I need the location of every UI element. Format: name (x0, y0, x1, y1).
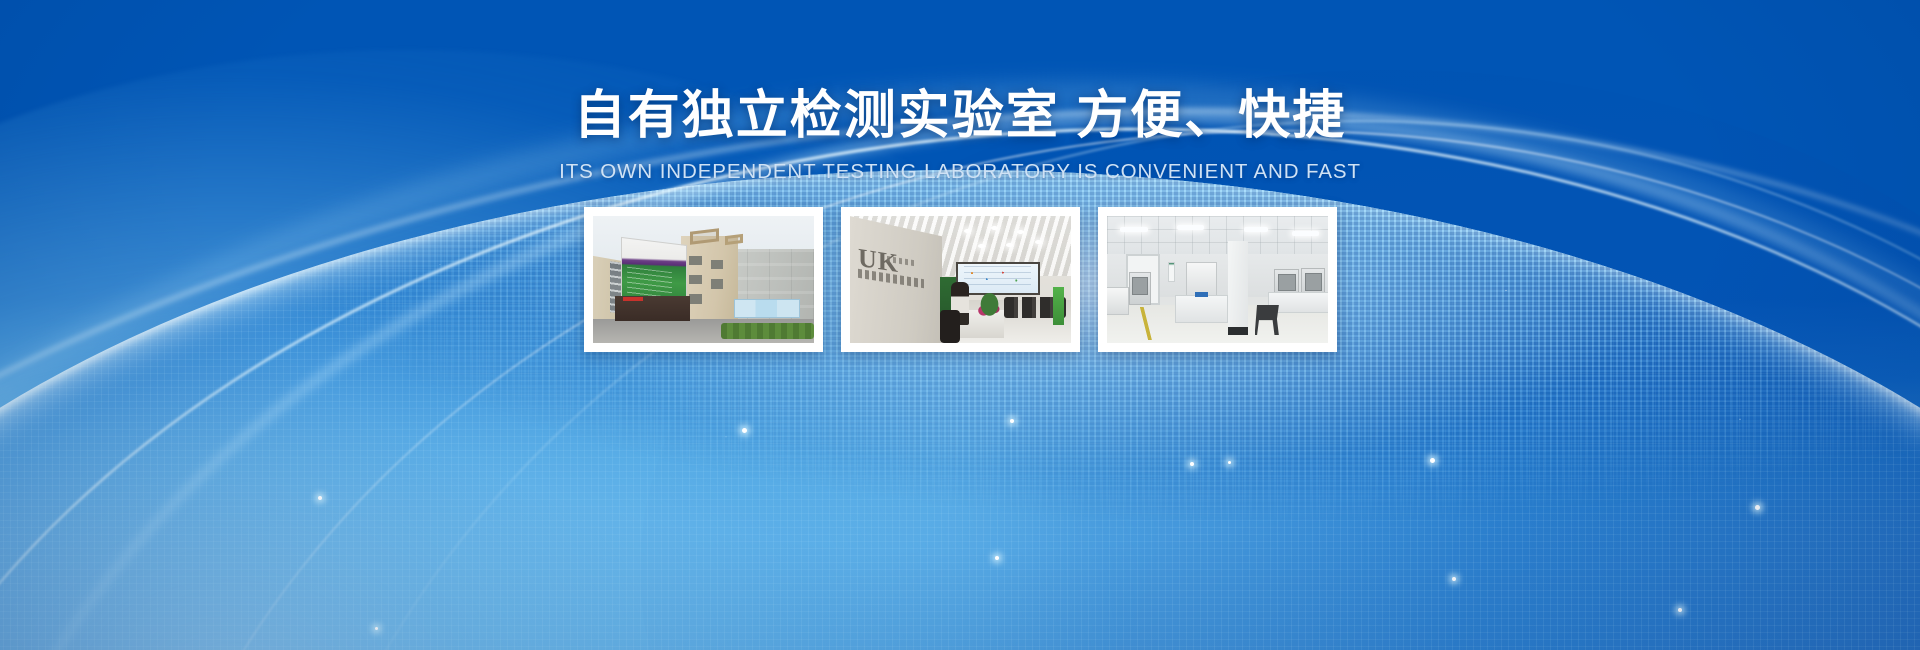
photo-card-laboratory-interior[interactable] (1098, 207, 1337, 352)
photo-laboratory-interior (1107, 216, 1328, 343)
banner-copy: 自有独立检测实验室 方便、快捷 ITS OWN INDEPENDENT TEST… (0, 88, 1920, 184)
sparkle-icon (1190, 462, 1194, 466)
photo-card-reception-lobby[interactable]: UK (841, 207, 1080, 352)
sparkle-icon (742, 428, 747, 433)
sparkle-icon (1430, 458, 1435, 463)
photo-reception-lobby: UK (850, 216, 1071, 343)
sparkle-icon (375, 627, 378, 630)
sparkle-icon (1228, 461, 1231, 464)
page-subtitle: ITS OWN INDEPENDENT TESTING LABORATORY I… (0, 160, 1920, 184)
sparkle-icon (1010, 419, 1014, 423)
hero-banner: 自有独立检测实验室 方便、快捷 ITS OWN INDEPENDENT TEST… (0, 0, 1920, 650)
sparkle-icon (1755, 505, 1760, 510)
page-title: 自有独立检测实验室 方便、快捷 (0, 88, 1920, 144)
sparkle-icon (1452, 577, 1456, 581)
photo-building-exterior (593, 216, 814, 343)
photo-card-building-exterior[interactable] (584, 207, 823, 352)
photo-card-list: UK (0, 207, 1920, 352)
sparkle-icon (1678, 608, 1682, 612)
sparkle-icon (318, 496, 322, 500)
sparkle-icon (995, 556, 999, 560)
